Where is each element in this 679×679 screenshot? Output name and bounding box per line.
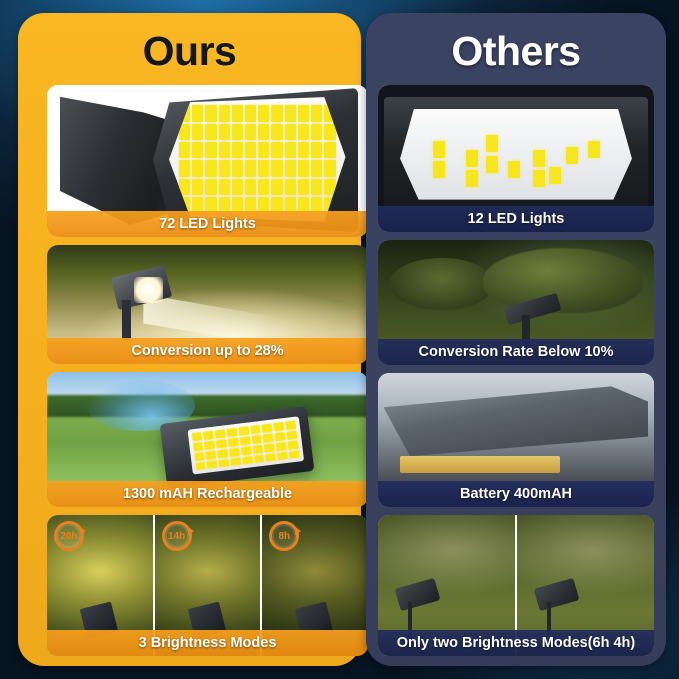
ours-card-leds: 72 LED Lights [47, 85, 368, 237]
others-card-battery: Battery 400mAH [378, 373, 654, 507]
badge-runtime-14h: 14h [162, 521, 192, 551]
others-card-conversion: Conversion Rate Below 10% [378, 240, 654, 365]
ours-label-brightness: 3 Brightness Modes [47, 630, 368, 656]
ours-title: Ours [18, 31, 361, 72]
led-array [169, 97, 346, 222]
ours-label-leds: 72 LED Lights [47, 211, 368, 237]
comparison-infographic: Ours [0, 0, 679, 679]
others-title: Others [366, 31, 666, 72]
ours-panel: Ours [18, 13, 361, 666]
others-card-leds: 12 LED Lights [378, 85, 654, 232]
ours-card-brightness: 20h 14h 8h 3 Brightness Modes [47, 515, 368, 656]
others-panel: Others [366, 13, 666, 666]
others-label-brightness: Only two Brightness Modes(6h 4h) [378, 630, 654, 656]
others-label-conversion: Conversion Rate Below 10% [378, 339, 654, 365]
others-label-battery: Battery 400mAH [378, 481, 654, 507]
ours-label-battery: 1300 mAH Rechargeable [47, 481, 368, 507]
others-card-brightness: Only two Brightness Modes(6h 4h) [378, 515, 654, 656]
others-label-leds: 12 LED Lights [378, 206, 654, 232]
ours-card-battery: 1300 mAH Rechargeable [47, 372, 368, 507]
ours-card-conversion: Conversion up to 28% [47, 245, 368, 364]
badge-runtime-20h: 20h [54, 521, 84, 551]
ours-label-conversion: Conversion up to 28% [47, 338, 368, 364]
